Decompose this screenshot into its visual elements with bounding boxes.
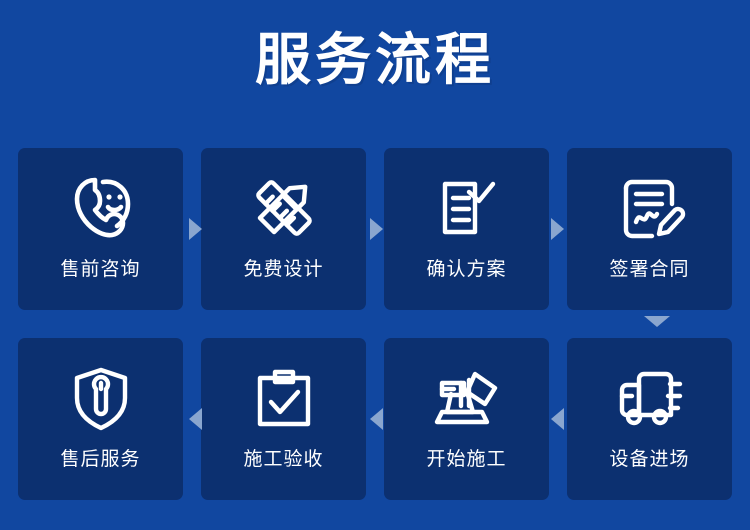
step-card-confirm-plan[interactable]: 确认方案 <box>384 148 549 310</box>
pencil-ruler-icon <box>246 170 322 246</box>
arrow-left-icon <box>189 408 202 430</box>
arrow-right-icon <box>189 218 202 240</box>
shield-wrench-icon <box>63 360 139 436</box>
excavator-icon <box>429 360 505 436</box>
step-card-sign-contract[interactable]: 签署合同 <box>567 148 732 310</box>
step-card-construction-acceptance[interactable]: 施工验收 <box>201 338 366 500</box>
arrow-left-icon <box>370 408 383 430</box>
phone-smiley-icon <box>63 170 139 246</box>
page-title: 服务流程 <box>0 24 750 96</box>
step-card-pre-sales-consultation[interactable]: 售前咨询 <box>18 148 183 310</box>
document-check-icon <box>429 170 505 246</box>
step-card-free-design[interactable]: 免费设计 <box>201 148 366 310</box>
arrow-left-icon <box>551 408 564 430</box>
step-label: 售前咨询 <box>60 258 140 282</box>
step-label: 设备进场 <box>609 448 689 472</box>
delivery-truck-icon <box>612 360 688 436</box>
step-card-start-construction[interactable]: 开始施工 <box>384 338 549 500</box>
step-label: 签署合同 <box>609 258 689 282</box>
arrow-down-icon <box>644 316 670 327</box>
step-card-equipment-arrival[interactable]: 设备进场 <box>567 338 732 500</box>
step-label: 售后服务 <box>60 448 140 472</box>
step-label: 免费设计 <box>243 258 323 282</box>
step-label: 施工验收 <box>243 448 323 472</box>
step-label: 开始施工 <box>426 448 506 472</box>
clipboard-check-icon <box>246 360 322 436</box>
step-label: 确认方案 <box>426 258 506 282</box>
arrow-right-icon <box>370 218 383 240</box>
arrow-right-icon <box>551 218 564 240</box>
step-card-after-sales-service[interactable]: 售后服务 <box>18 338 183 500</box>
contract-signature-pen-icon <box>612 170 688 246</box>
service-process-infographic: 服务流程 售前咨询 <box>0 0 750 530</box>
